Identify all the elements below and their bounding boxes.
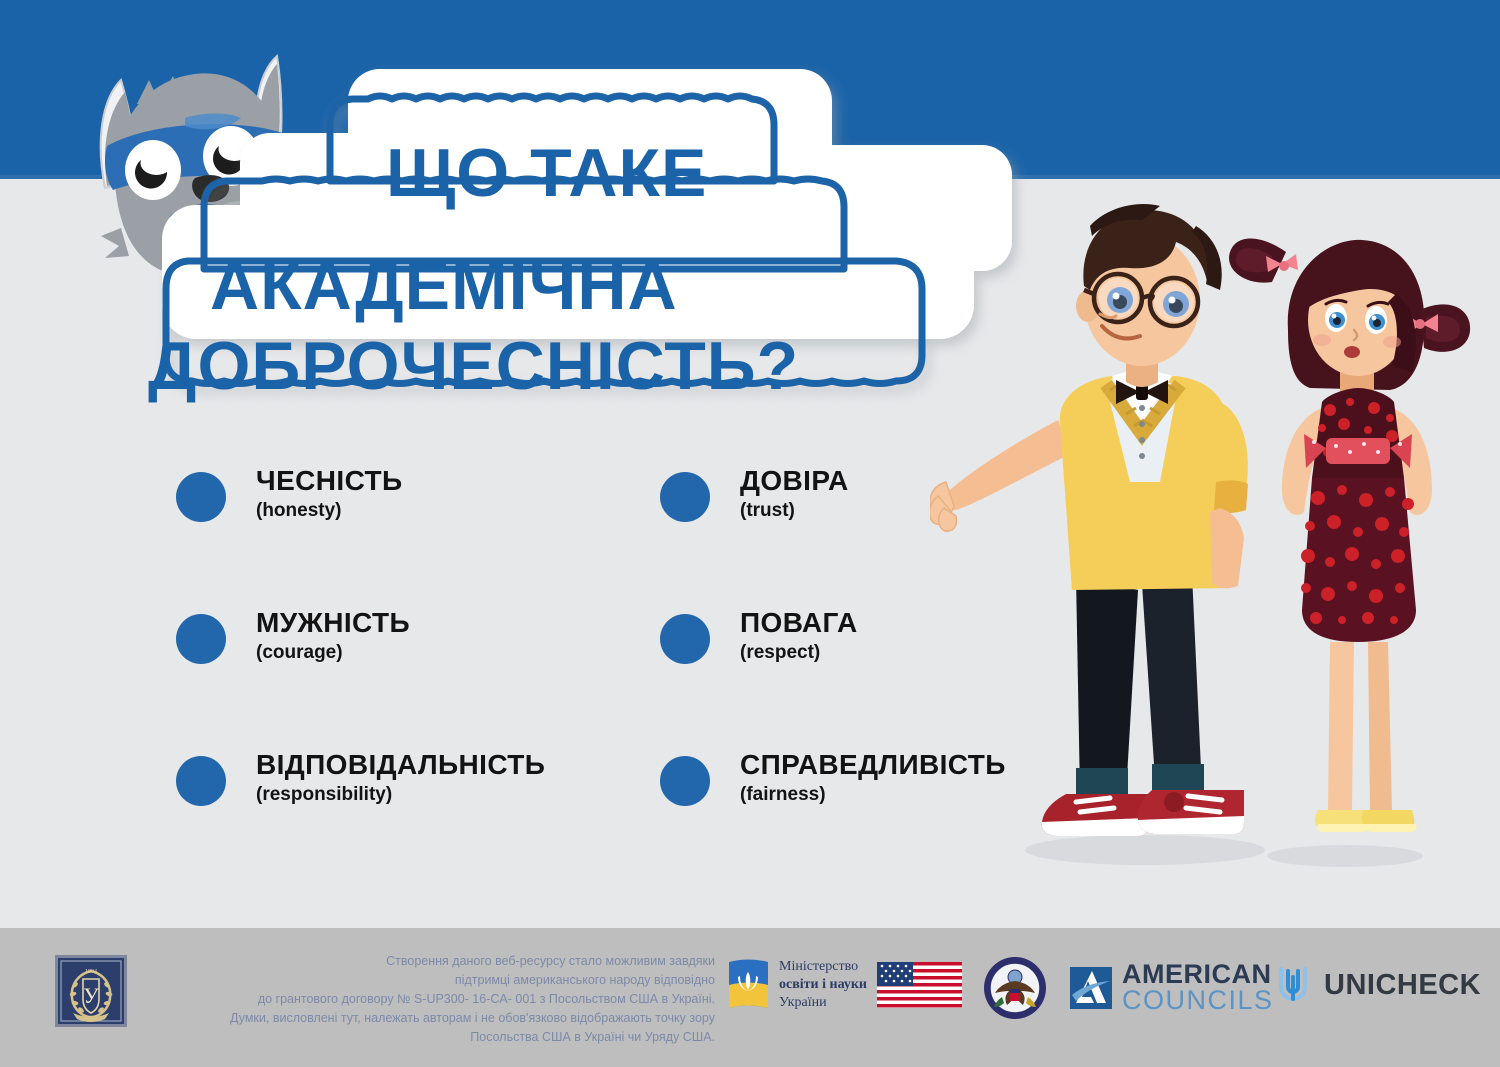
bullet-dot-icon (176, 756, 226, 806)
ministry-of-education-logo: Міністерство освіти і науки України (727, 958, 867, 1013)
us-flag-icon (877, 962, 962, 1008)
ministry-line-3: України (779, 994, 867, 1012)
footer-disclaimer: Створення даного веб-ресурсу стало можли… (215, 952, 715, 1047)
american-councils-wordmark: AMERICAN COUNCILS (1122, 962, 1274, 1014)
ac-line-2: COUNCILS (1122, 988, 1274, 1014)
value-item-trust: ДОВІРА (trust) (660, 466, 849, 522)
bullet-dot-icon (660, 756, 710, 806)
crest-letter: У (83, 983, 99, 1008)
value-item-respect: ПОВАГА (respect) (660, 608, 858, 664)
value-subtitle: (responsibility) (256, 784, 545, 806)
bullet-dot-icon (660, 472, 710, 522)
disclaimer-line-3: до грантового договору № S-UP300- 16-CA-… (215, 990, 715, 1009)
unicheck-mark-icon (1272, 963, 1314, 1007)
disclaimer-line-1: Створення даного веб-ресурсу стало можли… (215, 952, 715, 971)
unicheck-logo: UNICHECK (1272, 963, 1481, 1007)
value-title: ВІДПОВІДАЛЬНІСТЬ (256, 750, 545, 779)
value-subtitle: (courage) (256, 642, 410, 664)
value-subtitle: (respect) (740, 642, 858, 664)
value-subtitle: (honesty) (256, 500, 403, 522)
value-title: ДОВІРА (740, 466, 849, 495)
bullet-dot-icon (176, 472, 226, 522)
american-councils-logo: AMERICAN COUNCILS (1068, 962, 1274, 1014)
ministry-line-2: освіти і науки (779, 976, 867, 994)
us-state-department-seal-icon (982, 955, 1048, 1021)
value-title: МУЖНІСТЬ (256, 608, 410, 637)
students-illustration (930, 190, 1490, 880)
disclaimer-line-4: Думки, висловлені тут, належать авторам … (215, 1009, 715, 1028)
value-title: ЧЕСНІСТЬ (256, 466, 403, 495)
disclaimer-line-2: підтримці американського народу відповід… (215, 971, 715, 990)
american-councils-mark-icon (1068, 965, 1114, 1011)
crest-year: 1804 (85, 969, 97, 975)
ministry-name-text: Міністерство освіти і науки України (779, 958, 867, 1013)
ukraine-flag-book-icon (727, 958, 770, 1012)
bullet-dot-icon (660, 614, 710, 664)
value-item-responsibility: ВІДПОВІДАЛЬНІСТЬ (responsibility) (176, 750, 545, 806)
value-title: ПОВАГА (740, 608, 858, 637)
ministry-line-1: Міністерство (779, 958, 867, 976)
bullet-dot-icon (176, 614, 226, 664)
title-speech-bubble (140, 55, 1030, 435)
value-item-courage: МУЖНІСТЬ (courage) (176, 608, 410, 664)
values-list: ЧЕСНІСТЬ (honesty) ДОВІРА (trust) МУЖНІС… (176, 466, 1056, 856)
disclaimer-line-5: Посольства США в Україні чи Уряду США. (215, 1028, 715, 1047)
value-subtitle: (trust) (740, 500, 849, 522)
university-crest-logo: 1804 У (55, 955, 127, 1027)
value-item-honesty: ЧЕСНІСТЬ (honesty) (176, 466, 403, 522)
unicheck-wordmark: UNICHECK (1324, 969, 1481, 1002)
infographic-poster: ЩО ТАКЕ АКАДЕМІЧНА ДОБРОЧЕСНІСТЬ? ЧЕСНІС… (0, 0, 1500, 1067)
